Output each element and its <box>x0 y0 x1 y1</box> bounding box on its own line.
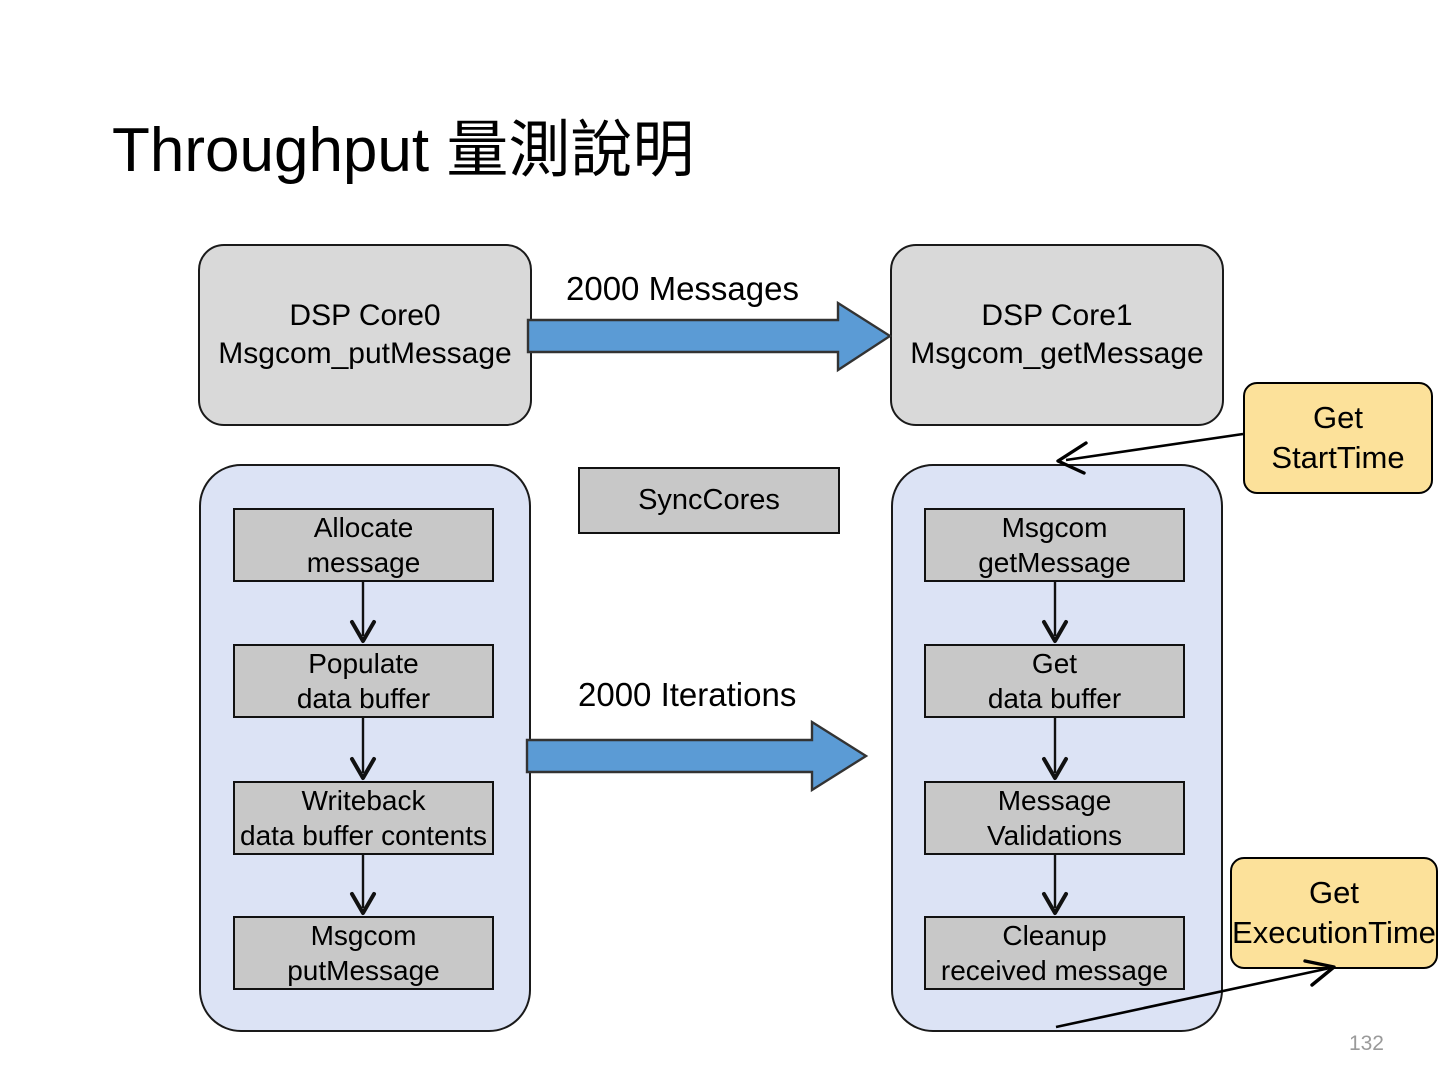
step-getmessage-line1: Msgcom <box>1002 510 1108 545</box>
step-get-data-buffer[interactable]: Get data buffer <box>924 644 1185 718</box>
step-get-data-buffer-line1: Get <box>1032 646 1077 681</box>
step-cleanup-line1: Cleanup <box>1002 918 1106 953</box>
callout-executiontime-line1: Get <box>1309 873 1359 913</box>
slide-canvas: Throughput 量測說明 DSP Core0 Msgcom_putMess… <box>0 0 1440 1080</box>
step-validations-line2: Validations <box>987 818 1122 853</box>
step-putmessage-line1: Msgcom <box>311 918 417 953</box>
callout-get-executiontime[interactable]: Get ExecutionTime <box>1230 857 1438 969</box>
callout-starttime-line1: Get <box>1313 398 1363 438</box>
step-cleanup-line2: received message <box>941 953 1168 988</box>
step-writeback-line2: data buffer contents <box>240 818 487 853</box>
iterations-arrow <box>527 722 866 790</box>
page-number: 132 <box>1349 1032 1384 1056</box>
callout-starttime-line2: StartTime <box>1271 438 1404 478</box>
step-putmessage-line2: putMessage <box>287 953 440 988</box>
dsp-core1-box[interactable]: DSP Core1 Msgcom_getMessage <box>890 244 1224 426</box>
messages-arrow <box>528 303 890 370</box>
step-allocate-message[interactable]: Allocate message <box>233 508 494 582</box>
sync-cores-label: SyncCores <box>638 484 780 517</box>
step-cleanup-received-message[interactable]: Cleanup received message <box>924 916 1185 990</box>
dsp-core1-line2: Msgcom_getMessage <box>910 335 1203 373</box>
step-allocate-message-line2: message <box>307 545 421 580</box>
step-populate-data-buffer[interactable]: Populate data buffer <box>233 644 494 718</box>
callout-get-starttime[interactable]: Get StartTime <box>1243 382 1433 494</box>
dsp-core0-line2: Msgcom_putMessage <box>218 335 511 373</box>
messages-arrow-label: 2000 Messages <box>566 270 799 308</box>
step-allocate-message-line1: Allocate <box>314 510 414 545</box>
sync-cores-box[interactable]: SyncCores <box>578 467 840 534</box>
step-message-validations[interactable]: Message Validations <box>924 781 1185 855</box>
page-title: Throughput 量測說明 <box>112 118 694 183</box>
step-writeback-line1: Writeback <box>302 783 426 818</box>
step-populate-line1: Populate <box>308 646 419 681</box>
step-writeback-data-buffer-contents[interactable]: Writeback data buffer contents <box>233 781 494 855</box>
iterations-arrow-label: 2000 Iterations <box>578 676 796 714</box>
step-msgcom-putmessage[interactable]: Msgcom putMessage <box>233 916 494 990</box>
step-msgcom-getmessage[interactable]: Msgcom getMessage <box>924 508 1185 582</box>
dsp-core0-line1: DSP Core0 <box>289 297 440 335</box>
step-validations-line1: Message <box>998 783 1112 818</box>
dsp-core0-box[interactable]: DSP Core0 Msgcom_putMessage <box>198 244 532 426</box>
step-get-data-buffer-line2: data buffer <box>988 681 1121 716</box>
step-getmessage-line2: getMessage <box>978 545 1131 580</box>
step-populate-line2: data buffer <box>297 681 430 716</box>
callout-executiontime-line2: ExecutionTime <box>1232 913 1436 953</box>
dsp-core1-line1: DSP Core1 <box>981 297 1132 335</box>
